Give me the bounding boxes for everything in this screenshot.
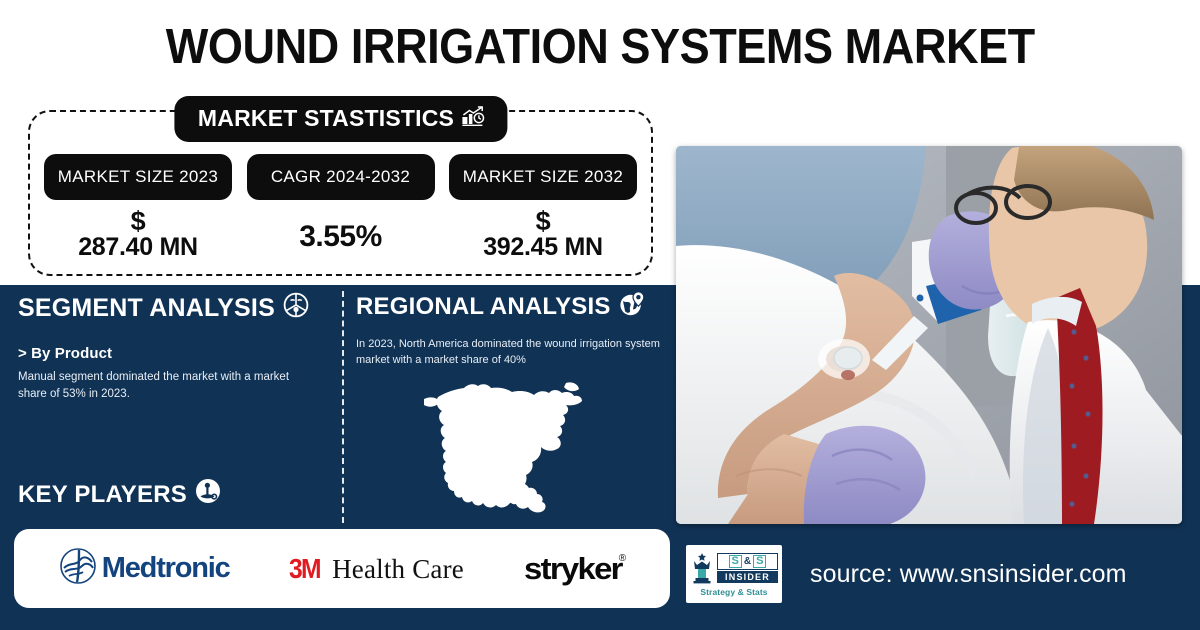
medtronic-emblem-icon [58, 546, 98, 591]
stat-label-chip: MARKET SIZE 2023 [44, 154, 232, 200]
sns-s-right: S [753, 555, 766, 568]
sns-insider-logo: S & S INSIDER Strategy & Stats [686, 545, 782, 603]
north-america-map [356, 375, 656, 520]
bar-chart-growth-icon [461, 106, 485, 131]
person-podium-circle-icon [195, 478, 221, 511]
segment-analysis-heading: SEGMENT ANALYSIS [18, 294, 275, 323]
key-players-logos-card: Medtronic 3M Health Care stryker ® [14, 529, 670, 608]
page-title: WOUND IRRIGATION SYSTEMS MARKET [166, 19, 1035, 75]
stat-amount: 392.45 MN [483, 233, 603, 261]
3m-mark: 3M [289, 553, 320, 585]
segment-analysis-section: SEGMENT ANALYSIS > By Product Manual seg… [18, 292, 328, 402]
sns-logo-lockup: S & S INSIDER [717, 553, 778, 583]
logo-3m-health-care: 3M Health Care [289, 553, 464, 585]
market-statistics-panel: MARKET STASTISTICS MARKET SIZE 2023 $ 28… [28, 96, 653, 276]
stats-header-pill: MARKET STASTISTICS [174, 96, 507, 142]
stats-header-label: MARKET STASTISTICS [198, 105, 454, 132]
currency-symbol: $ [78, 207, 198, 235]
regional-analysis-heading-row: REGIONAL ANALYSIS [356, 290, 666, 324]
stat-value: $ 287.40 MN [78, 207, 198, 261]
stat-label-chip: CAGR 2024-2032 [247, 154, 435, 200]
globe-pin-icon [619, 290, 646, 324]
sns-logo-top: S & S INSIDER [690, 551, 778, 585]
page-title-bar: WOUND IRRIGATION SYSTEMS MARKET [0, 14, 1200, 80]
chess-king-icon [690, 552, 714, 584]
regional-analysis-body: In 2023, North America dominated the wou… [356, 336, 661, 369]
stat-amount: 287.40 MN [78, 233, 198, 261]
key-players-heading: KEY PLAYERS [18, 481, 187, 509]
sns-ss-row: S & S [717, 553, 778, 570]
section-divider [342, 291, 344, 523]
source-row: S & S INSIDER Strategy & Stats source: w… [686, 545, 1127, 603]
segment-analysis-subheading: > By Product [18, 345, 328, 362]
logo-stryker: stryker ® [524, 551, 627, 587]
sns-s-left: S [729, 555, 742, 568]
stryker-wordmark: stryker [524, 551, 622, 587]
segment-analysis-heading-row: SEGMENT ANALYSIS [18, 292, 328, 325]
segment-analysis-body: Manual segment dominated the market with… [18, 369, 303, 402]
source-url-text: source: www.snsinsider.com [810, 560, 1127, 589]
3m-health-care-wordmark: Health Care [332, 554, 464, 585]
logo-medtronic: Medtronic [58, 546, 230, 591]
regional-analysis-section: REGIONAL ANALYSIS In 2023, North America… [356, 290, 666, 369]
currency-symbol: $ [483, 207, 603, 235]
key-players-section: KEY PLAYERS [18, 478, 221, 511]
sns-insider-word: INSIDER [717, 571, 778, 583]
stat-amount: 3.55% [299, 220, 382, 253]
key-players-heading-row: KEY PLAYERS [18, 478, 221, 511]
stats-columns: MARKET SIZE 2023 $ 287.40 MN CAGR 2024-2… [44, 154, 637, 261]
sns-tagline: Strategy & Stats [690, 587, 778, 597]
stat-value: 3.55% [299, 222, 382, 253]
stat-value: $ 392.45 MN [483, 207, 603, 261]
stat-label-chip: MARKET SIZE 2032 [449, 154, 637, 200]
pie-chart-circle-icon [283, 292, 309, 325]
stat-item-market-size-2032: MARKET SIZE 2032 $ 392.45 MN [449, 154, 637, 261]
medtronic-wordmark: Medtronic [102, 552, 230, 585]
stat-item-cagr: CAGR 2024-2032 3.55% [247, 154, 435, 253]
sns-ampersand: & [744, 556, 751, 567]
regional-analysis-heading: REGIONAL ANALYSIS [356, 293, 611, 321]
stat-item-market-size-2023: MARKET SIZE 2023 $ 287.40 MN [44, 154, 232, 261]
wound-irrigation-photo [676, 146, 1182, 524]
